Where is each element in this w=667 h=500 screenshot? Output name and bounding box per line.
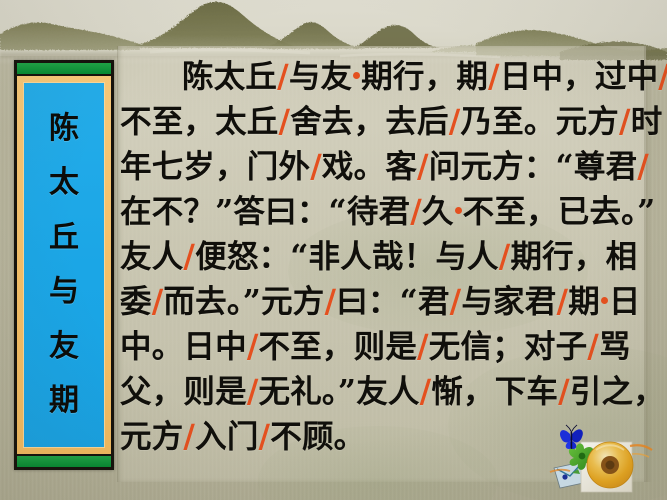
pause-slash-mark: / <box>619 103 631 140</box>
pause-slash-mark: / <box>183 238 195 275</box>
text-segment: 在不？”答曰：“待君 <box>120 193 410 230</box>
banner-bottom-bar <box>17 454 111 467</box>
text-segment: 期 <box>568 283 600 320</box>
banner-inner-panel: 陈太丘与友期 <box>23 82 105 448</box>
text-segment: 与友 <box>289 58 352 95</box>
text-segment: 引之， <box>570 373 665 410</box>
text-segment: 日 <box>609 283 641 320</box>
pause-slash-mark: / <box>152 283 164 320</box>
pause-slash-mark: / <box>247 328 259 365</box>
text-segment: 舍去，去后 <box>290 103 449 140</box>
text-segment: 骂 <box>599 328 631 365</box>
vertical-title-banner: 陈太丘与友期 <box>14 60 114 470</box>
classical-text-body: 陈太丘/与友期行，期/日中，过中/不至，太丘/舍去，去后/乃至。元方/时年七岁，… <box>120 54 664 459</box>
text-segment: 曰：“君 <box>336 283 449 320</box>
banner-title-char: 与 <box>49 277 79 307</box>
pause-slash-mark: / <box>279 103 291 140</box>
text-segment: 期行，期 <box>361 58 488 95</box>
text-line: 不至，太丘/舍去，去后/乃至。元方/时 <box>120 99 664 144</box>
banner-title-char: 太 <box>49 168 79 198</box>
text-segment: 而去。”元方 <box>163 283 324 320</box>
text-segment: 元方 <box>120 418 183 455</box>
text-segment: 戏。客 <box>322 148 417 185</box>
orange-streak-icon <box>630 445 652 450</box>
text-segment: 不至，太丘 <box>120 103 279 140</box>
text-segment: 友人 <box>120 238 183 275</box>
pause-slash-mark: / <box>450 283 462 320</box>
pause-slash-mark: / <box>449 103 461 140</box>
text-segment: 不至，则是 <box>259 328 418 365</box>
text-segment: 时 <box>631 103 663 140</box>
pause-slash-mark: / <box>556 283 568 320</box>
gold-cd-icon <box>587 442 633 488</box>
text-segment: 期行，相 <box>510 238 637 275</box>
text-segment: 入门 <box>195 418 258 455</box>
text-segment: 中。日中 <box>120 328 247 365</box>
emphasis-dot-icon <box>353 72 360 79</box>
text-segment: 年七岁，门外 <box>120 148 310 185</box>
pause-slash-mark: / <box>310 148 322 185</box>
text-line: 委/而去。”元方/曰：“君/与家君/期日 <box>120 279 664 324</box>
text-segment: 不至，已去。” <box>463 193 656 230</box>
pause-slash-mark: / <box>417 148 429 185</box>
text-segment: 惭，下车 <box>431 373 558 410</box>
emphasis-dot-icon <box>601 297 608 304</box>
text-segment: 无信；对子 <box>429 328 588 365</box>
text-segment: 便怒：“非人哉！与人 <box>195 238 499 275</box>
banner-top-bar <box>17 63 111 76</box>
text-segment: 不顾。 <box>270 418 365 455</box>
banner-title-char: 期 <box>49 386 79 416</box>
banner-title-char: 丘 <box>49 223 79 253</box>
text-line: 中。日中/不至，则是/无信；对子/骂 <box>120 324 664 369</box>
banner-frame: 陈太丘与友期 <box>17 76 111 454</box>
pause-slash-mark: / <box>410 193 422 230</box>
emphasis-dot-icon <box>455 207 462 214</box>
slide-canvas: 陈太丘与友期 陈太丘/与友期行，期/日中，过中/不至，太丘/舍去，去后/乃至。元… <box>0 0 667 500</box>
banner-title-char: 友 <box>49 332 79 362</box>
text-segment: 与家君 <box>461 283 556 320</box>
text-segment: 日中，过中 <box>500 58 659 95</box>
pause-slash-mark: / <box>658 58 667 95</box>
pause-slash-mark: / <box>558 373 570 410</box>
pause-slash-mark: / <box>420 373 432 410</box>
corner-clipart-group <box>548 424 660 496</box>
text-line: 友人/便怒：“非人哉！与人/期行，相 <box>120 234 664 279</box>
pause-slash-mark: / <box>277 58 289 95</box>
text-segment: 委 <box>120 283 152 320</box>
pause-slash-mark: / <box>499 238 511 275</box>
orange-streak-icon <box>632 454 649 457</box>
pause-slash-mark: / <box>247 373 259 410</box>
pause-slash-mark: / <box>587 328 599 365</box>
pause-slash-mark: / <box>259 418 271 455</box>
pause-slash-mark: / <box>417 328 429 365</box>
text-segment: 无礼。”友人 <box>259 373 420 410</box>
pause-slash-mark: / <box>325 283 337 320</box>
pause-slash-mark: / <box>183 418 195 455</box>
pause-slash-mark: / <box>637 148 649 185</box>
text-line: 年七岁，门外/戏。客/问元方：“尊君/ <box>120 144 664 189</box>
text-segment: 问元方：“尊君 <box>429 148 638 185</box>
text-line: 父，则是/无礼。”友人/惭，下车/引之， <box>120 369 664 414</box>
text-line: 陈太丘/与友期行，期/日中，过中/ <box>120 54 664 99</box>
pause-slash-mark: / <box>488 58 500 95</box>
text-segment: 久 <box>422 193 454 230</box>
text-segment: 陈太丘 <box>182 58 277 95</box>
text-segment: 乃至。元方 <box>460 103 619 140</box>
text-segment: 父，则是 <box>120 373 247 410</box>
text-line: 在不？”答曰：“待君/久不至，已去。” <box>120 189 664 234</box>
banner-title-char: 陈 <box>49 114 79 144</box>
